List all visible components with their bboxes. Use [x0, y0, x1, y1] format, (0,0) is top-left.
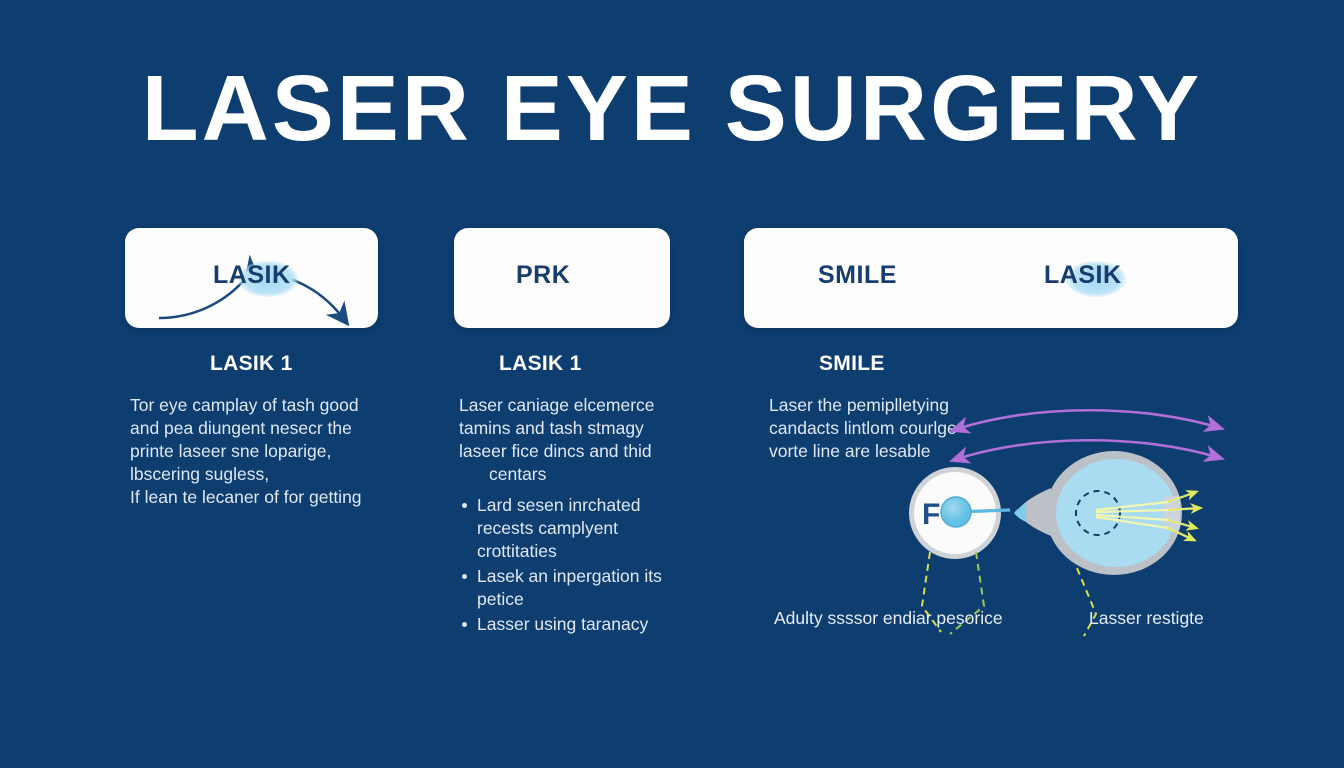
paragraph-line: lbscering sugless,: [130, 463, 378, 486]
column-prk: PRK LASIK 1 Laser caniage elcemerce tami…: [454, 228, 670, 652]
infographic-page: LASER EYE SURGERY LASIK LASIK 1 Tor: [0, 0, 1344, 768]
column-heading-2: LASIK 1: [499, 352, 670, 376]
column-paragraph-2: Laser caniage elcemerce tamins and tash …: [459, 394, 670, 486]
card-label-lasik-secondary: LASIK: [1044, 261, 1122, 290]
card-label-smile: SMILE: [818, 261, 897, 290]
paragraph-line: centars: [459, 463, 670, 486]
diagram-caption-left: Adulty ssssor endiar pesorice: [774, 608, 1003, 629]
eye-diagrams-svg: F: [744, 400, 1244, 640]
diagram-caption-right: Lasser restigte: [1089, 608, 1204, 629]
diagram-area: F: [744, 400, 1244, 640]
card-smile[interactable]: SMILE LASIK: [744, 228, 1238, 328]
paragraph-line: printe laseer sne loparige,: [130, 440, 378, 463]
column-paragraph-1: Tor eye camplay of tash good and pea diu…: [130, 394, 378, 509]
svg-text:F: F: [922, 498, 940, 531]
paragraph-line: Laser caniage elcemerce: [459, 394, 670, 417]
card-lasik[interactable]: LASIK: [125, 228, 378, 328]
column-bullets-2: Lard sesen inrchated recests camplyent c…: [459, 494, 670, 636]
list-item: Lasser using taranacy: [459, 613, 670, 636]
page-title: LASER EYE SURGERY: [0, 62, 1344, 155]
card-label-prk: PRK: [516, 261, 570, 290]
card-label-lasik: LASIK: [213, 261, 291, 290]
card-prk[interactable]: PRK: [454, 228, 670, 328]
paragraph-line: and pea diungent nesecr the: [130, 417, 378, 440]
column-lasik: LASIK LASIK 1 Tor eye camplay of tash go…: [125, 228, 378, 509]
column-heading-1: LASIK 1: [210, 352, 378, 376]
list-item: Lard sesen inrchated recests camplyent c…: [459, 494, 670, 563]
paragraph-line: laseer fice dincs and thid: [459, 440, 670, 463]
column-heading-3: SMILE: [819, 352, 1238, 376]
list-item: Lasek an inpergation its petice: [459, 565, 670, 611]
paragraph-line: Tor eye camplay of tash good: [130, 394, 378, 417]
paragraph-line: tamins and tash stmagy: [459, 417, 670, 440]
paragraph-line: If lean te lecaner of for getting: [130, 486, 378, 509]
